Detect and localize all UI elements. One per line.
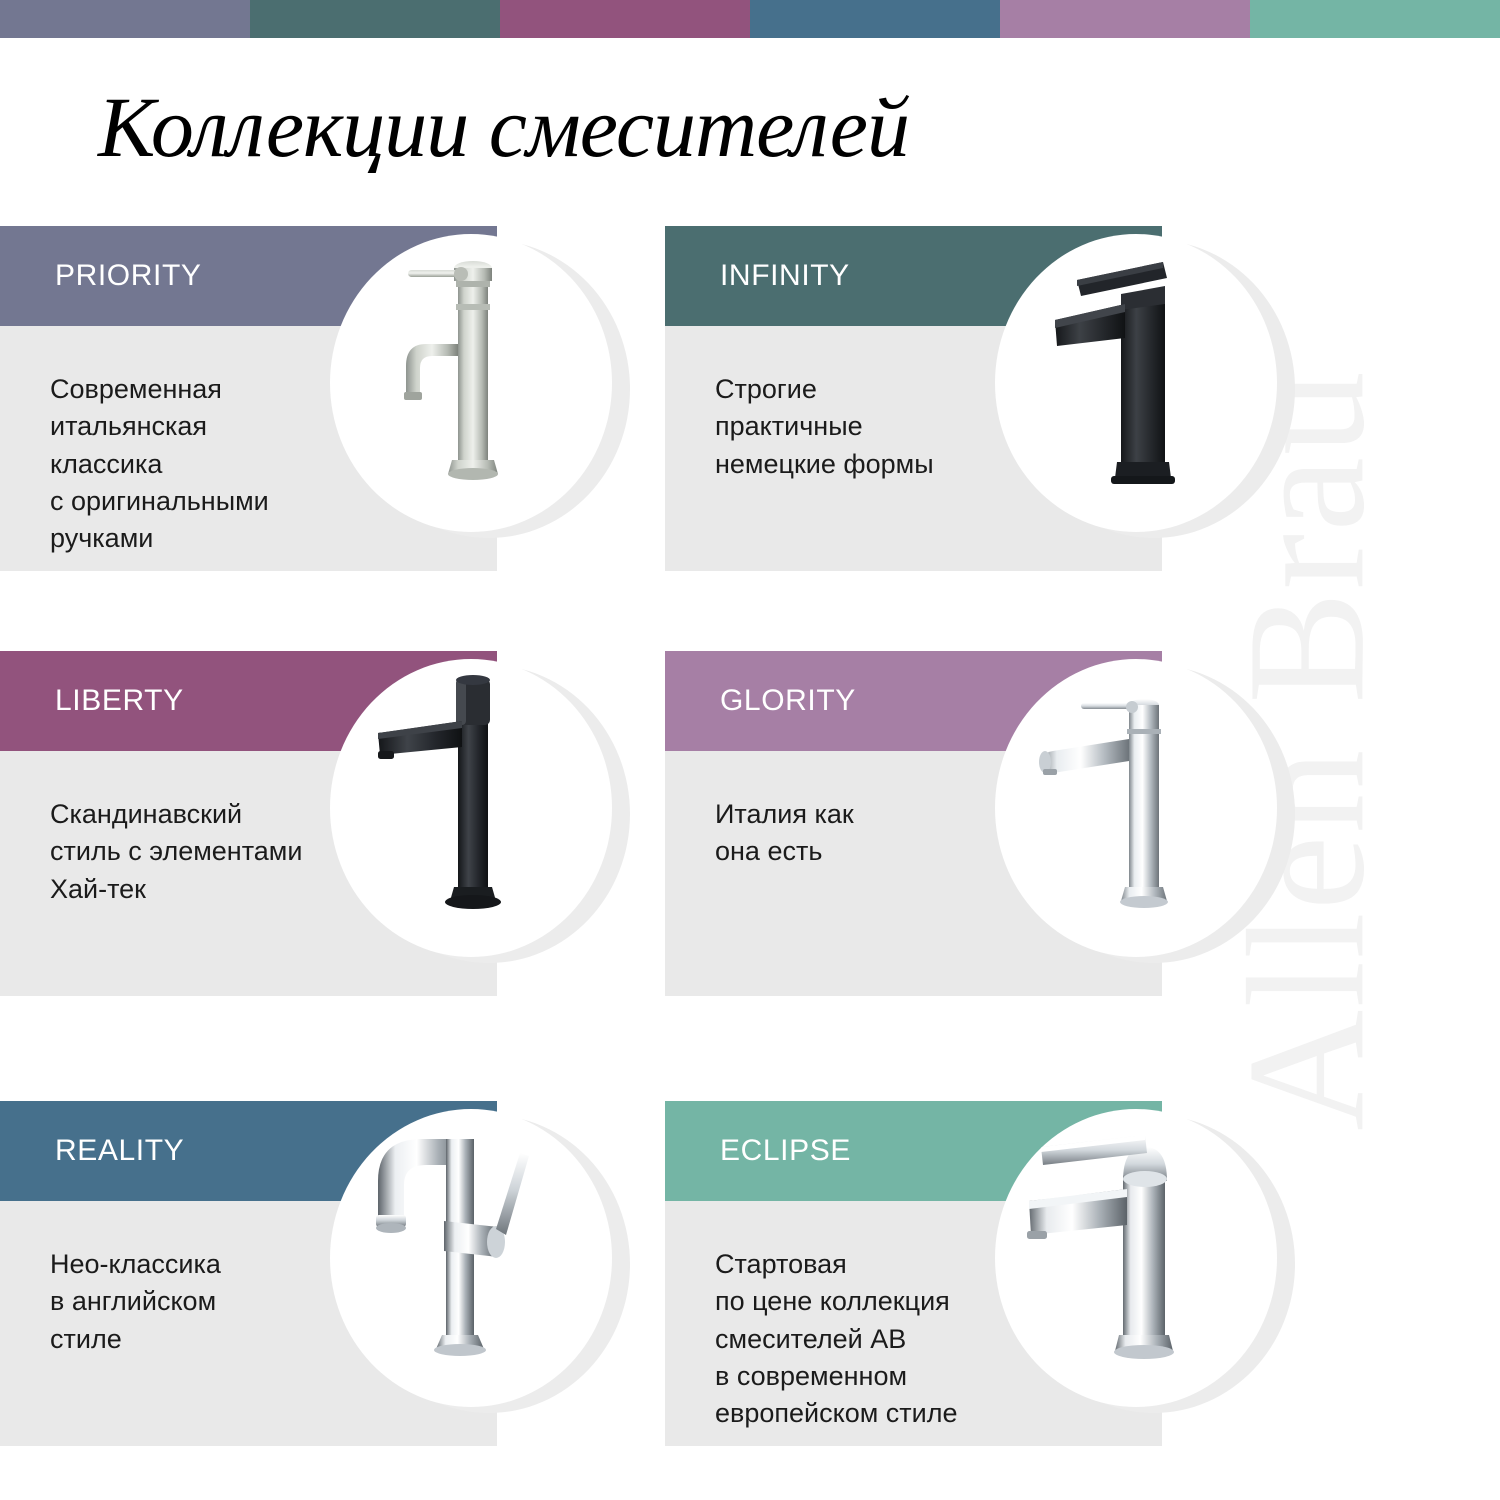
collection-name-reality: REALITY	[55, 1134, 184, 1168]
collections-grid: PRIORITY Современная итальянская классик…	[0, 0, 1500, 1500]
collection-name-eclipse: ECLIPSE	[720, 1134, 851, 1168]
collection-description-priority: Современная итальянская классика с ориги…	[50, 371, 470, 557]
collection-name-infinity: INFINITY	[720, 259, 850, 293]
collection-name-liberty: LIBERTY	[55, 684, 184, 718]
collection-description-liberty: Скандинавский стиль с элементами Хай-тек	[50, 796, 470, 908]
collection-name-glority: GLORITY	[720, 684, 856, 718]
collection-description-glority: Италия как она есть	[715, 796, 1135, 871]
collection-description-eclipse: Стартовая по цене коллекция смесителей A…	[715, 1246, 1135, 1432]
collection-name-priority: PRIORITY	[55, 259, 201, 293]
collection-description-infinity: Строгие практичные немецкие формы	[715, 371, 1135, 483]
collection-description-reality: Нео-классика в английском стиле	[50, 1246, 470, 1358]
